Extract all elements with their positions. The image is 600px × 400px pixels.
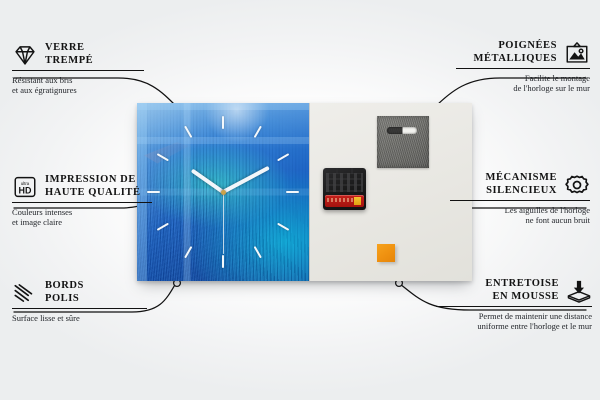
hour-marker	[254, 246, 262, 258]
callout-divider	[436, 306, 592, 307]
product-image	[137, 103, 472, 281]
callout-title: ENTRETOISE EN MOUSSE	[485, 278, 559, 303]
hour-marker	[222, 116, 224, 129]
svg-text:HD: HD	[19, 185, 32, 195]
callout-divider	[12, 70, 144, 71]
gear-icon	[564, 173, 590, 197]
callout-divider	[450, 200, 590, 201]
minute-hand	[222, 166, 270, 194]
metal-hanging-plate	[377, 116, 429, 168]
callout-divider	[456, 68, 590, 69]
hour-marker	[157, 223, 169, 231]
callout-impression-haute-qualite: ultra HD IMPRESSION DE HAUTE QUALITÉ Cou…	[12, 174, 152, 228]
hour-marker	[277, 223, 289, 231]
callout-title: IMPRESSION DE HAUTE QUALITÉ	[45, 174, 141, 199]
callout-subtitle: Couleurs intenses et image claire	[12, 207, 152, 228]
callout-header: VERRE TREMPÉ	[12, 42, 144, 67]
hanging-frame-icon	[564, 41, 590, 65]
callout-title: VERRE TREMPÉ	[45, 42, 93, 67]
callout-title: MÉCANISME SILENCIEUX	[486, 172, 557, 197]
hour-marker	[286, 191, 299, 193]
foam-spacer	[377, 244, 395, 262]
callout-subtitle: Résistant aux bris et aux égratignures	[12, 75, 144, 96]
hour-marker	[184, 126, 192, 138]
callout-verre-trempe: VERRE TREMPÉ Résistant aux bris et aux é…	[12, 42, 144, 96]
foam-spacer-arrow-icon	[566, 279, 592, 303]
second-hand	[223, 192, 224, 254]
callout-bords-polis: BORDS POLIS Surface lisse et sûre	[12, 280, 147, 323]
polished-edges-icon	[12, 281, 38, 305]
clock-back-panel	[309, 103, 472, 281]
callout-header: MÉCANISME SILENCIEUX	[450, 172, 590, 197]
callout-title: BORDS POLIS	[45, 280, 84, 305]
keyhole-slot	[387, 127, 417, 134]
clock-mechanism	[323, 168, 366, 210]
hour-marker	[222, 255, 224, 268]
callout-subtitle: Permet de maintenir une distance uniform…	[436, 311, 592, 332]
hour-marker	[157, 153, 169, 161]
hour-marker	[254, 126, 262, 138]
callout-header: ENTRETOISE EN MOUSSE	[436, 278, 592, 303]
clock-dial	[137, 103, 309, 281]
hand-center-cap	[221, 190, 226, 195]
diamond-icon	[12, 43, 38, 67]
battery-label	[327, 198, 353, 202]
callout-poignees-metalliques: POIGNÉES MÉTALLIQUES Facilite le montage…	[456, 40, 590, 94]
callout-header: POIGNÉES MÉTALLIQUES	[456, 40, 590, 65]
ultra-hd-badge-icon: ultra HD	[12, 175, 38, 199]
callout-subtitle: Facilite le montage de l'horloge sur le …	[456, 73, 590, 94]
callout-subtitle: Surface lisse et sûre	[12, 313, 147, 324]
callout-title: POIGNÉES MÉTALLIQUES	[474, 40, 557, 65]
callout-divider	[12, 202, 152, 203]
battery	[325, 195, 364, 207]
hour-hand	[191, 169, 224, 194]
callout-header: ultra HD IMPRESSION DE HAUTE QUALITÉ	[12, 174, 152, 199]
callout-entretoise-en-mousse: ENTRETOISE EN MOUSSE Permet de maintenir…	[436, 278, 592, 332]
hour-marker	[277, 153, 289, 161]
mechanism-vents	[326, 173, 362, 192]
clock-front-face	[137, 103, 309, 281]
callout-mecanisme-silencieux: MÉCANISME SILENCIEUX Les aiguilles de l'…	[450, 172, 590, 226]
callout-subtitle: Les aiguilles de l'horloge ne font aucun…	[450, 205, 590, 226]
callout-header: BORDS POLIS	[12, 280, 147, 305]
callout-divider	[12, 308, 147, 309]
infographic-canvas: VERRE TREMPÉ Résistant aux bris et aux é…	[0, 0, 600, 400]
hour-marker	[184, 246, 192, 258]
